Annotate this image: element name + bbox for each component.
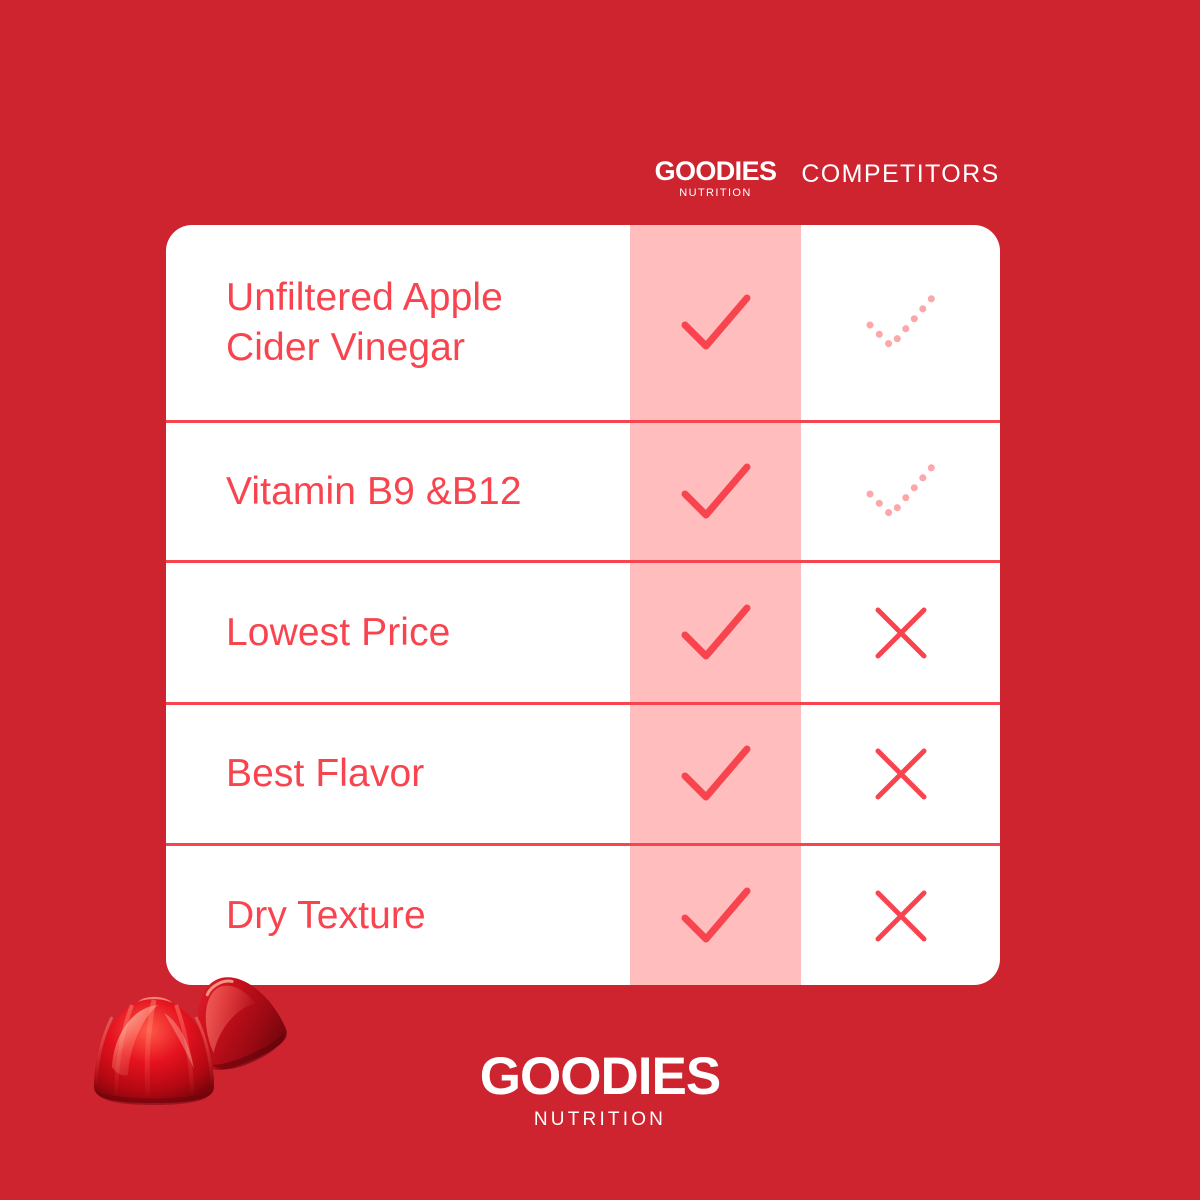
competitor-mark-cell [801, 745, 1000, 803]
table-row: Dry Texture [166, 843, 1000, 985]
feature-label-line: Best Flavor [226, 749, 630, 799]
competitor-mark-cell [801, 292, 1000, 354]
competitor-mark-cell [801, 887, 1000, 945]
goodies-mark-cell [630, 885, 801, 947]
goodies-mark-cell [630, 461, 801, 523]
table-header: GOODIES NUTRITION COMPETITORS [630, 158, 1000, 216]
cross-icon [872, 604, 930, 662]
competitor-mark-cell [801, 461, 1000, 523]
check-icon [679, 602, 753, 664]
feature-label-cell: Best Flavor [166, 749, 630, 799]
dotted-check-icon [864, 461, 938, 523]
comparison-graphic: GOODIES NUTRITION COMPETITORS Unfiltered… [0, 0, 1200, 1200]
comparison-table-card: Unfiltered Apple Cider Vinegar Vit [166, 225, 1000, 985]
header-column-goodies: GOODIES NUTRITION [630, 158, 801, 216]
competitors-label: COMPETITORS [801, 160, 999, 189]
table-row: Vitamin B9 &B12 [166, 420, 1000, 560]
table-row: Best Flavor [166, 702, 1000, 843]
goodies-logo-subtext: NUTRITION [679, 188, 751, 199]
check-icon [679, 743, 753, 805]
footer-logo-subtext: NUTRITION [534, 1110, 666, 1129]
feature-label-line: Unfiltered Apple [226, 273, 630, 323]
feature-label-cell: Dry Texture [166, 891, 630, 941]
feature-label-cell: Unfiltered Apple Cider Vinegar [166, 273, 630, 373]
check-icon [679, 885, 753, 947]
cross-icon [872, 887, 930, 945]
feature-label-cell: Vitamin B9 &B12 [166, 467, 630, 517]
competitor-mark-cell [801, 604, 1000, 662]
feature-label-line: Lowest Price [226, 608, 630, 658]
check-icon [679, 292, 753, 354]
goodies-logo-header: GOODIES NUTRITION [655, 158, 777, 199]
feature-label-line: Vitamin B9 &B12 [226, 467, 630, 517]
table-row: Unfiltered Apple Cider Vinegar [166, 225, 1000, 420]
footer-logo-wordmark: GOODIES [480, 1050, 720, 1103]
goodies-mark-cell [630, 743, 801, 805]
header-column-competitors: COMPETITORS [801, 158, 1000, 216]
comparison-table-rows: Unfiltered Apple Cider Vinegar Vit [166, 225, 1000, 985]
feature-label-line: Dry Texture [226, 891, 630, 941]
cross-icon [872, 745, 930, 803]
goodies-logo-footer: GOODIES NUTRITION [0, 1050, 1200, 1129]
feature-label-line: Cider Vinegar [226, 323, 630, 373]
check-icon [679, 461, 753, 523]
dotted-check-icon [864, 292, 938, 354]
goodies-mark-cell [630, 602, 801, 664]
feature-label-cell: Lowest Price [166, 608, 630, 658]
goodies-mark-cell [630, 292, 801, 354]
goodies-logo-wordmark: GOODIES [655, 158, 777, 185]
table-row: Lowest Price [166, 560, 1000, 702]
